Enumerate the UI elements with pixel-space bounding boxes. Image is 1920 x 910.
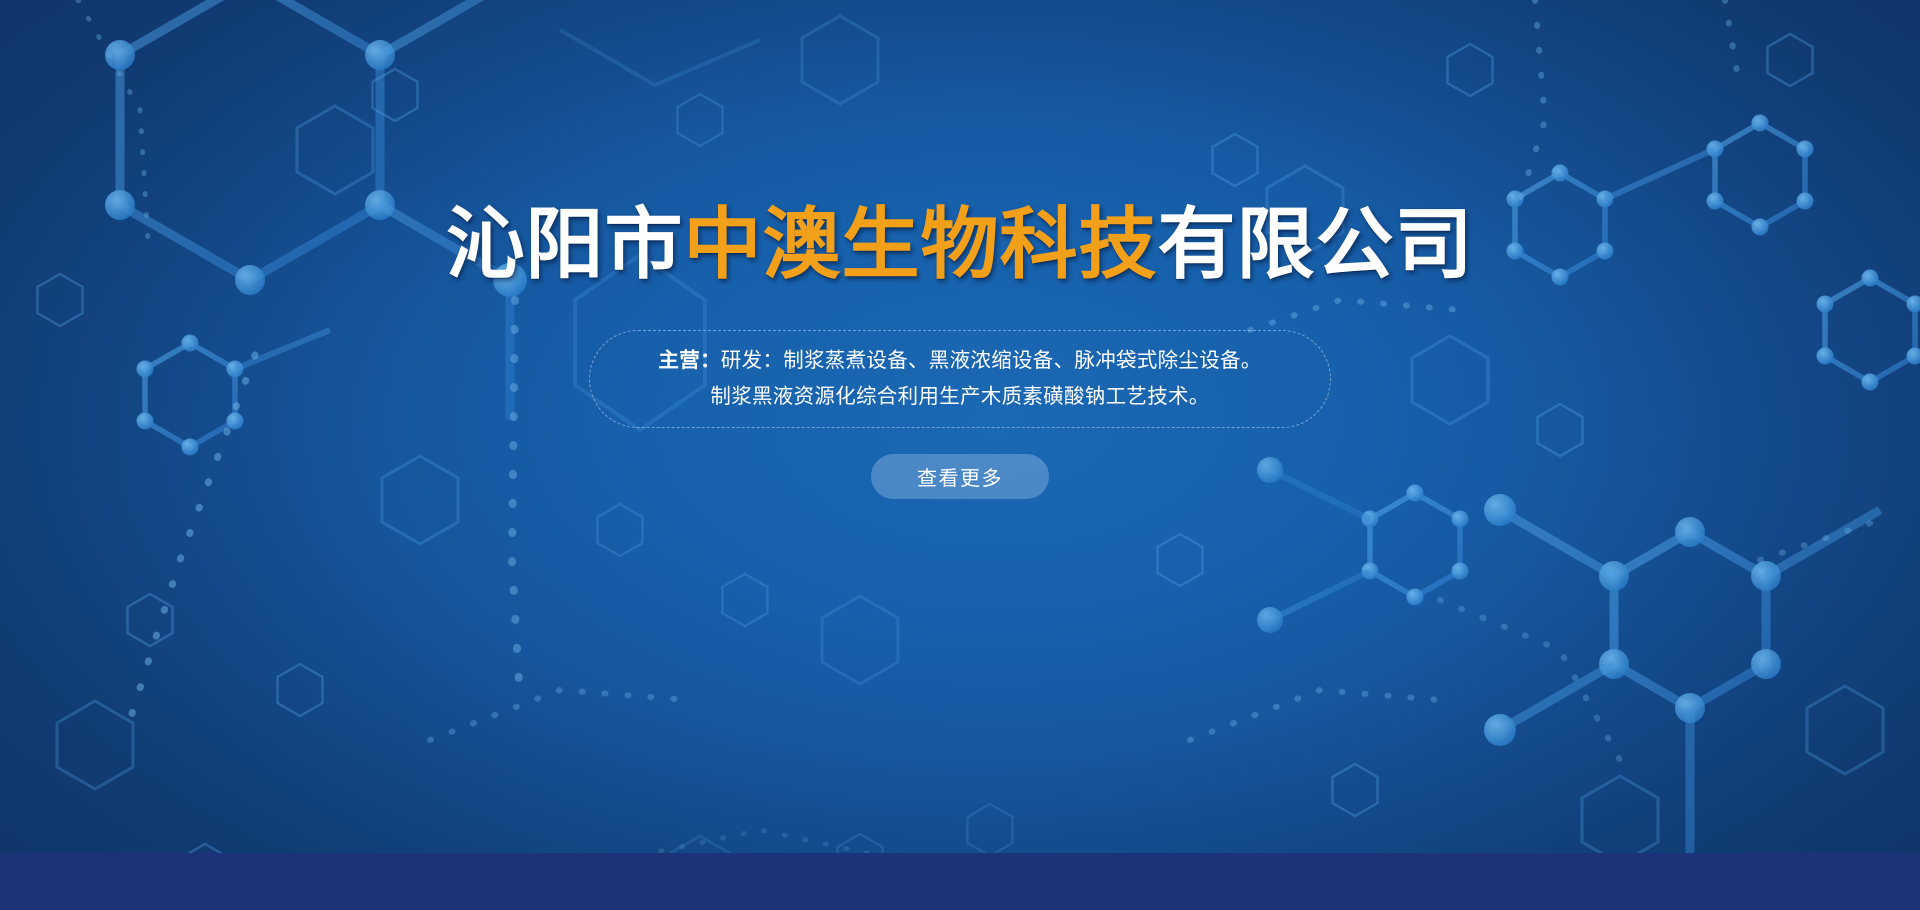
hero-content: 沁阳市中澳生物科技有限公司 主营：研发：制浆蒸煮设备、黑液浓缩设备、脉冲袋式除尘…: [0, 0, 1920, 853]
tagline-lead: 主营：: [658, 349, 720, 372]
tagline-line-2: 制浆黑液资源化综合利用生产木质素磺酸钠工艺技术。: [710, 379, 1209, 415]
page-title: 沁阳市中澳生物科技有限公司: [446, 205, 1473, 283]
view-more-button[interactable]: 查看更多: [871, 454, 1049, 499]
title-prefix: 沁阳市: [446, 200, 683, 288]
title-highlight: 中澳生物科技: [683, 200, 1157, 288]
hero-banner: 沁阳市中澳生物科技有限公司 主营：研发：制浆蒸煮设备、黑液浓缩设备、脉冲袋式除尘…: [0, 0, 1920, 910]
tagline-line-1-text: 研发：制浆蒸煮设备、黑液浓缩设备、脉冲袋式除尘设备。: [721, 349, 1262, 372]
bottom-band: [0, 853, 1920, 910]
tagline-line-1: 主营：研发：制浆蒸煮设备、黑液浓缩设备、脉冲袋式除尘设备。: [658, 343, 1261, 379]
tagline-box: 主营：研发：制浆蒸煮设备、黑液浓缩设备、脉冲袋式除尘设备。 制浆黑液资源化综合利…: [589, 330, 1331, 428]
title-suffix: 有限公司: [1158, 200, 1474, 288]
